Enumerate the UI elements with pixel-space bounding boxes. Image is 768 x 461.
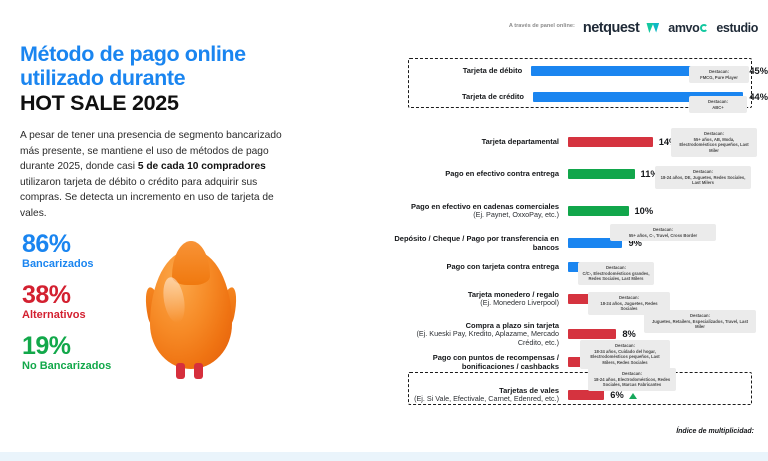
- trend-up-icon: [629, 393, 637, 399]
- intro-text-2: utilizaron tarjeta de débito o crédito p…: [20, 177, 274, 219]
- chart-bar: [568, 137, 653, 147]
- chart-bar: [568, 390, 604, 400]
- right-panel: A través de panel online: netquest amvo …: [392, 0, 768, 461]
- bottom-accent-bar: [0, 452, 768, 461]
- annotation-body: ABC+: [712, 105, 724, 110]
- left-panel: Método de pago online utilizado durante …: [0, 0, 392, 461]
- chart-category-label: Pago con tarjeta contra entrega: [392, 262, 568, 271]
- chart-category-label: Pago en efectivo en cadenas comerciales(…: [392, 202, 568, 220]
- intro-bold-1: 5 de cada 10 compradores: [138, 161, 266, 172]
- chart-category-label: Tarjetas de vales(Ej. Si Vale, Efectival…: [392, 386, 568, 404]
- annotation-body: FMCG, Pure Player: [700, 75, 738, 80]
- chart-category-sublabel: (Ej. Si Vale, Efectivale, Carnet, Edenre…: [392, 395, 559, 404]
- chart-category-label: Tarjeta departamental: [392, 137, 568, 146]
- brand-bar: A través de panel online: netquest amvo …: [509, 20, 758, 36]
- annotation-body: Juguetes, Retailers, Especializados, Tra…: [652, 319, 748, 330]
- chart-bar: [568, 329, 616, 339]
- hot-sale-flame-mascot-icon: [132, 243, 252, 393]
- chart-annotation-callout: Destacan:55+ años, C-, Travel, Cross Bor…: [610, 224, 716, 241]
- amvo-logo: amvo: [668, 21, 709, 35]
- chart-value-label: 6%: [610, 390, 636, 400]
- annotation-body: C/C-, Electrodomésticos grandes, Redes S…: [582, 271, 649, 282]
- estudio-logo: estudio: [716, 21, 758, 35]
- infographic-page: Método de pago online utilizado durante …: [0, 0, 768, 461]
- chart-annotation-callout: Destacan:55+ años, AB, Moda, Electrodomé…: [671, 128, 757, 157]
- chart-bar: [568, 169, 635, 179]
- annotation-body: 55+ años, AB, Moda, Electrodomésticos pe…: [679, 137, 748, 153]
- chart-annotation-callout: Destacan:C/C-, Electrodomésticos grandes…: [578, 262, 654, 285]
- chart-annotation-callout: Destacan:18-24 años, DE, Juguetes, Redes…: [655, 166, 751, 189]
- chart-category-label: Tarjeta de débito: [392, 66, 531, 75]
- intro-paragraph: A pesar de tener una presencia de segmen…: [20, 128, 290, 221]
- chart-category-sublabel: (Ej. Paynet, OxxoPay, etc.): [392, 211, 559, 220]
- panel-source-note: A través de panel online:: [509, 23, 575, 29]
- chart-category-label: Tarjeta monedero / regalo(Ej. Monedero L…: [392, 290, 568, 308]
- chart-annotation-callout: Destacan:18-24 años, Electrodomésticos, …: [588, 368, 676, 391]
- chart-value-label: 44%: [749, 92, 768, 102]
- annotation-body: 18-24 años, Electrodomésticos, Redes Soc…: [594, 377, 670, 388]
- amvo-ring-icon: [700, 24, 708, 32]
- chart-annotation-callout: Destacan:FMCG, Pure Player: [689, 66, 749, 83]
- annotation-body: 55+ años, C-, Travel, Cross Border: [629, 233, 697, 238]
- netquest-logo: netquest: [583, 20, 639, 36]
- chart-value-label: 10%: [635, 206, 654, 216]
- annotation-body: 18-24 años, Cuidado del hogar, Electrodo…: [590, 349, 659, 365]
- title-line-3: HOT SALE 2025: [20, 91, 350, 117]
- chart-annotation-callout: Destacan:ABC+: [689, 96, 747, 113]
- title-line-1: Método de pago online: [20, 42, 350, 66]
- chart-category-label: Tarjeta de crédito: [392, 92, 533, 101]
- chart-annotation-callout: Destacan:18-24 años, Cuidado del hogar, …: [580, 340, 670, 369]
- chart-bar: [568, 206, 629, 216]
- page-title: Método de pago online utilizado durante …: [20, 42, 350, 117]
- amvo-mark-icon: [646, 23, 661, 34]
- chart-category-sublabel: (Ej. Kueski Pay, Kredito, Aplazame, Merc…: [392, 330, 559, 348]
- chart-value-label: 8%: [622, 329, 635, 339]
- title-line-2: utilizado durante: [20, 66, 350, 90]
- footnote-multiplicity: Índice de multiplicidad:: [676, 428, 754, 435]
- chart-category-label: Depósito / Cheque / Pago por transferenc…: [392, 234, 568, 252]
- amvo-text: amvo: [668, 21, 699, 35]
- chart-category-sublabel: (Ej. Monedero Liverpool): [392, 299, 559, 308]
- chart-category-label: Compra a plazo sin tarjeta(Ej. Kueski Pa…: [392, 321, 568, 348]
- chart-category-label: Pago en efectivo contra entrega: [392, 169, 568, 178]
- chart-category-label: Pago con puntos de recompensas / bonific…: [392, 353, 568, 371]
- chart-value-label: 45%: [749, 66, 768, 76]
- chart-annotation-callout: Destacan:Juguetes, Retailers, Especializ…: [644, 310, 756, 333]
- annotation-body: 18-24 años, DE, Juguetes, Redes Sociales…: [661, 175, 746, 186]
